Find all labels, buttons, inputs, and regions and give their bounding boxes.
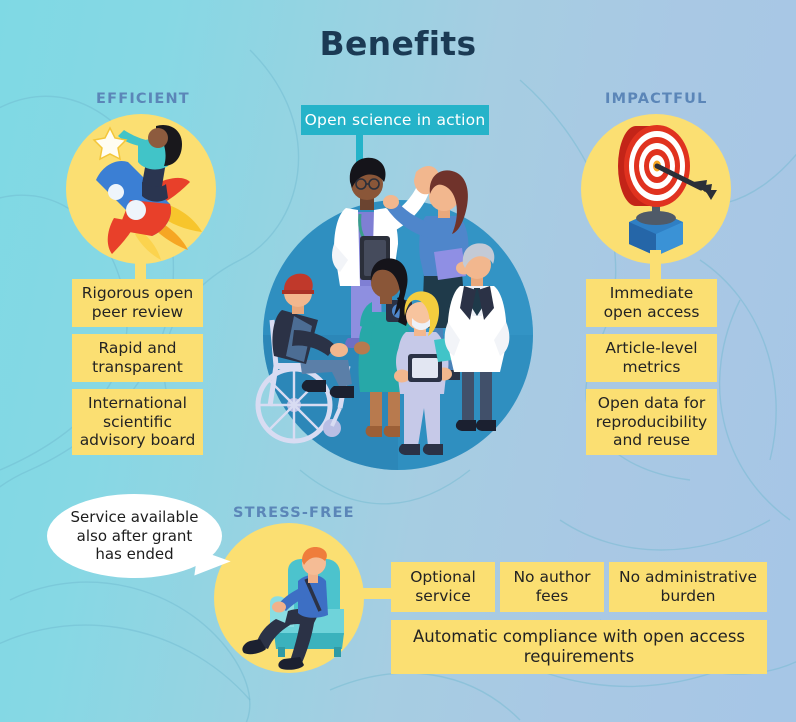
rocket-with-person-icon (66, 114, 216, 264)
callout-open-science-in-action: Open science in action (301, 105, 489, 135)
info-box-efficient-3: International scientific advisory board (72, 389, 203, 455)
info-box-impactful-3: Open data for reproducibility and reuse (586, 389, 717, 455)
info-box-stress-free-4: Automatic compliance with open access re… (391, 620, 767, 674)
info-box-stress-free-2: No author fees (500, 562, 604, 612)
section-label-efficient: EFFICIENT (96, 91, 190, 107)
info-box-impactful-1: Immediate open access (586, 279, 717, 327)
circle-badge-stress-free (214, 523, 364, 673)
circle-badge-efficient (66, 114, 216, 264)
speech-bubble-service-available: Service available also after grant has e… (47, 494, 222, 578)
circle-badge-impactful (581, 114, 731, 264)
info-box-efficient-2: Rapid and transparent (72, 334, 203, 382)
info-box-efficient-1: Rigorous open peer review (72, 279, 203, 327)
info-box-stress-free-1: Optional service (391, 562, 495, 612)
page-title: Benefits (0, 24, 796, 63)
section-label-impactful: IMPACTFUL (605, 91, 708, 107)
info-box-impactful-2: Article-level metrics (586, 334, 717, 382)
person-relaxing-in-armchair-icon (214, 523, 364, 673)
open-science-people-globe-illustration (248, 140, 548, 480)
infographic-canvas: Benefits EFFICIENT (0, 0, 796, 722)
info-box-stress-free-3: No administrative burden (609, 562, 767, 612)
section-label-stress-free: STRESS-FREE (233, 505, 355, 521)
target-with-arrow-icon (581, 114, 731, 264)
